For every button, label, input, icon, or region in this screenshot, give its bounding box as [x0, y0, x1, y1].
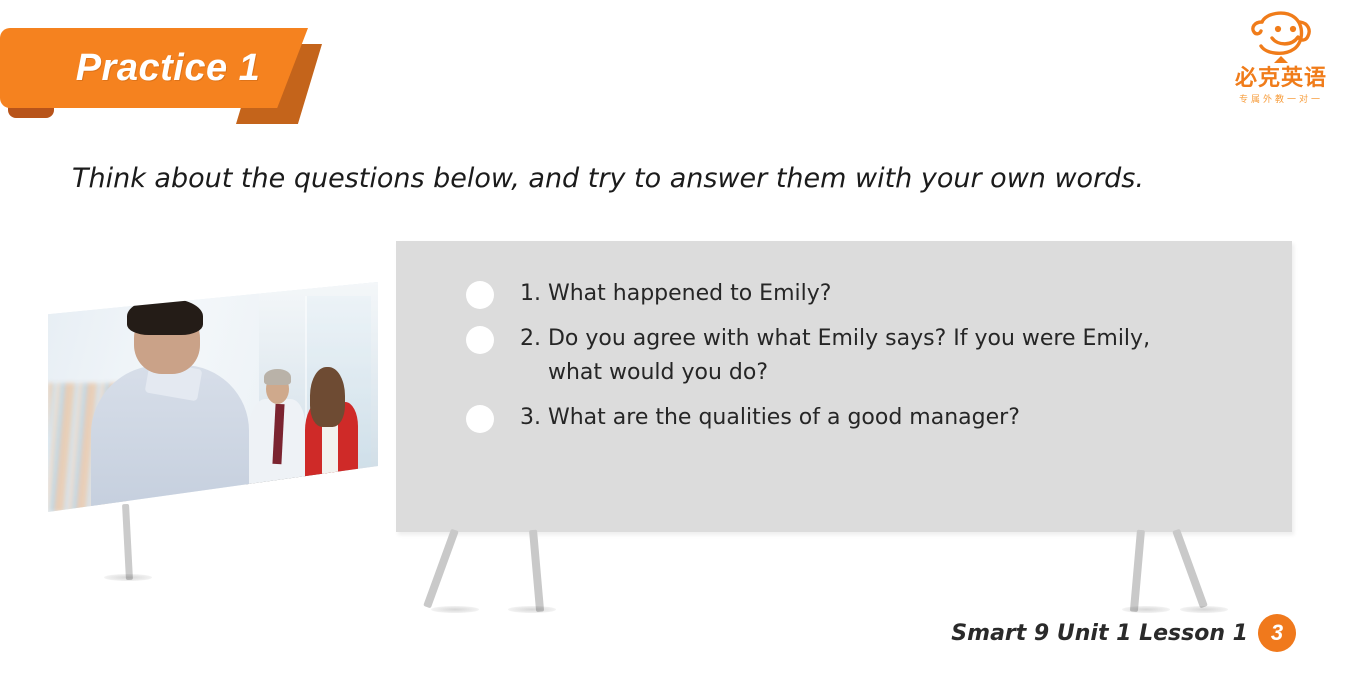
easel-leg-right-outer-shadow — [1180, 606, 1228, 613]
photo-colleague-male-hair — [264, 369, 290, 385]
page-number-badge: 3 — [1258, 614, 1296, 652]
easel-leg-left-inner-shadow — [508, 606, 556, 613]
question-list: 1. What happened to Emily? 2. Do you agr… — [466, 277, 1266, 447]
question-text: 3. What are the qualities of a good mana… — [520, 401, 1020, 434]
photo-leg-left-shadow — [104, 574, 152, 581]
instruction-text: Think about the questions below, and try… — [72, 163, 1272, 194]
bullet-icon — [466, 326, 494, 354]
list-item: 2. Do you agree with what Emily says? If… — [466, 322, 1266, 389]
easel-leg-right-inner — [1130, 530, 1145, 612]
photo-billboard — [48, 282, 388, 542]
photo-main-man-hair — [127, 298, 203, 335]
easel-leg-right-outer — [1172, 529, 1208, 609]
photo-leg-left — [122, 504, 133, 580]
footer: Smart 9 Unit 1 Lesson 1 3 — [951, 614, 1296, 652]
question-text: 1. What happened to Emily? — [520, 277, 831, 310]
easel-leg-right-inner-shadow — [1122, 606, 1170, 613]
question-board: 1. What happened to Emily? 2. Do you agr… — [396, 241, 1292, 532]
bullet-icon — [466, 405, 494, 433]
office-photo — [48, 282, 378, 512]
easel-leg-left-outer-shadow — [431, 606, 479, 613]
question-line-1: 2. Do you agree with what Emily says? If… — [520, 326, 1150, 351]
brand-tagline-cn: 专属外教一对一 — [1239, 92, 1323, 105]
brand-logo: 必克英语 专属外教一对一 — [1218, 8, 1344, 128]
list-item: 1. What happened to Emily? — [466, 277, 1266, 310]
brand-name-cn: 必克英语 — [1235, 67, 1327, 89]
easel-leg-left-outer — [423, 529, 459, 609]
question-line-2: what would you do? — [520, 356, 1150, 389]
easel-leg-left-inner — [529, 530, 544, 612]
slide-canvas: Practice 1 必克英语 专属外教一对一 Think about the … — [0, 0, 1360, 680]
banner-label: Practice 1 — [0, 28, 300, 108]
bullet-icon — [466, 281, 494, 309]
list-item: 3. What are the qualities of a good mana… — [466, 401, 1266, 434]
photo-colleague-female-hair — [310, 367, 345, 427]
question-text: 2. Do you agree with what Emily says? If… — [520, 322, 1150, 389]
practice-banner: Practice 1 — [0, 16, 340, 112]
smiling-face-headset-icon — [1238, 8, 1324, 66]
lesson-label: Smart 9 Unit 1 Lesson 1 — [951, 621, 1248, 646]
